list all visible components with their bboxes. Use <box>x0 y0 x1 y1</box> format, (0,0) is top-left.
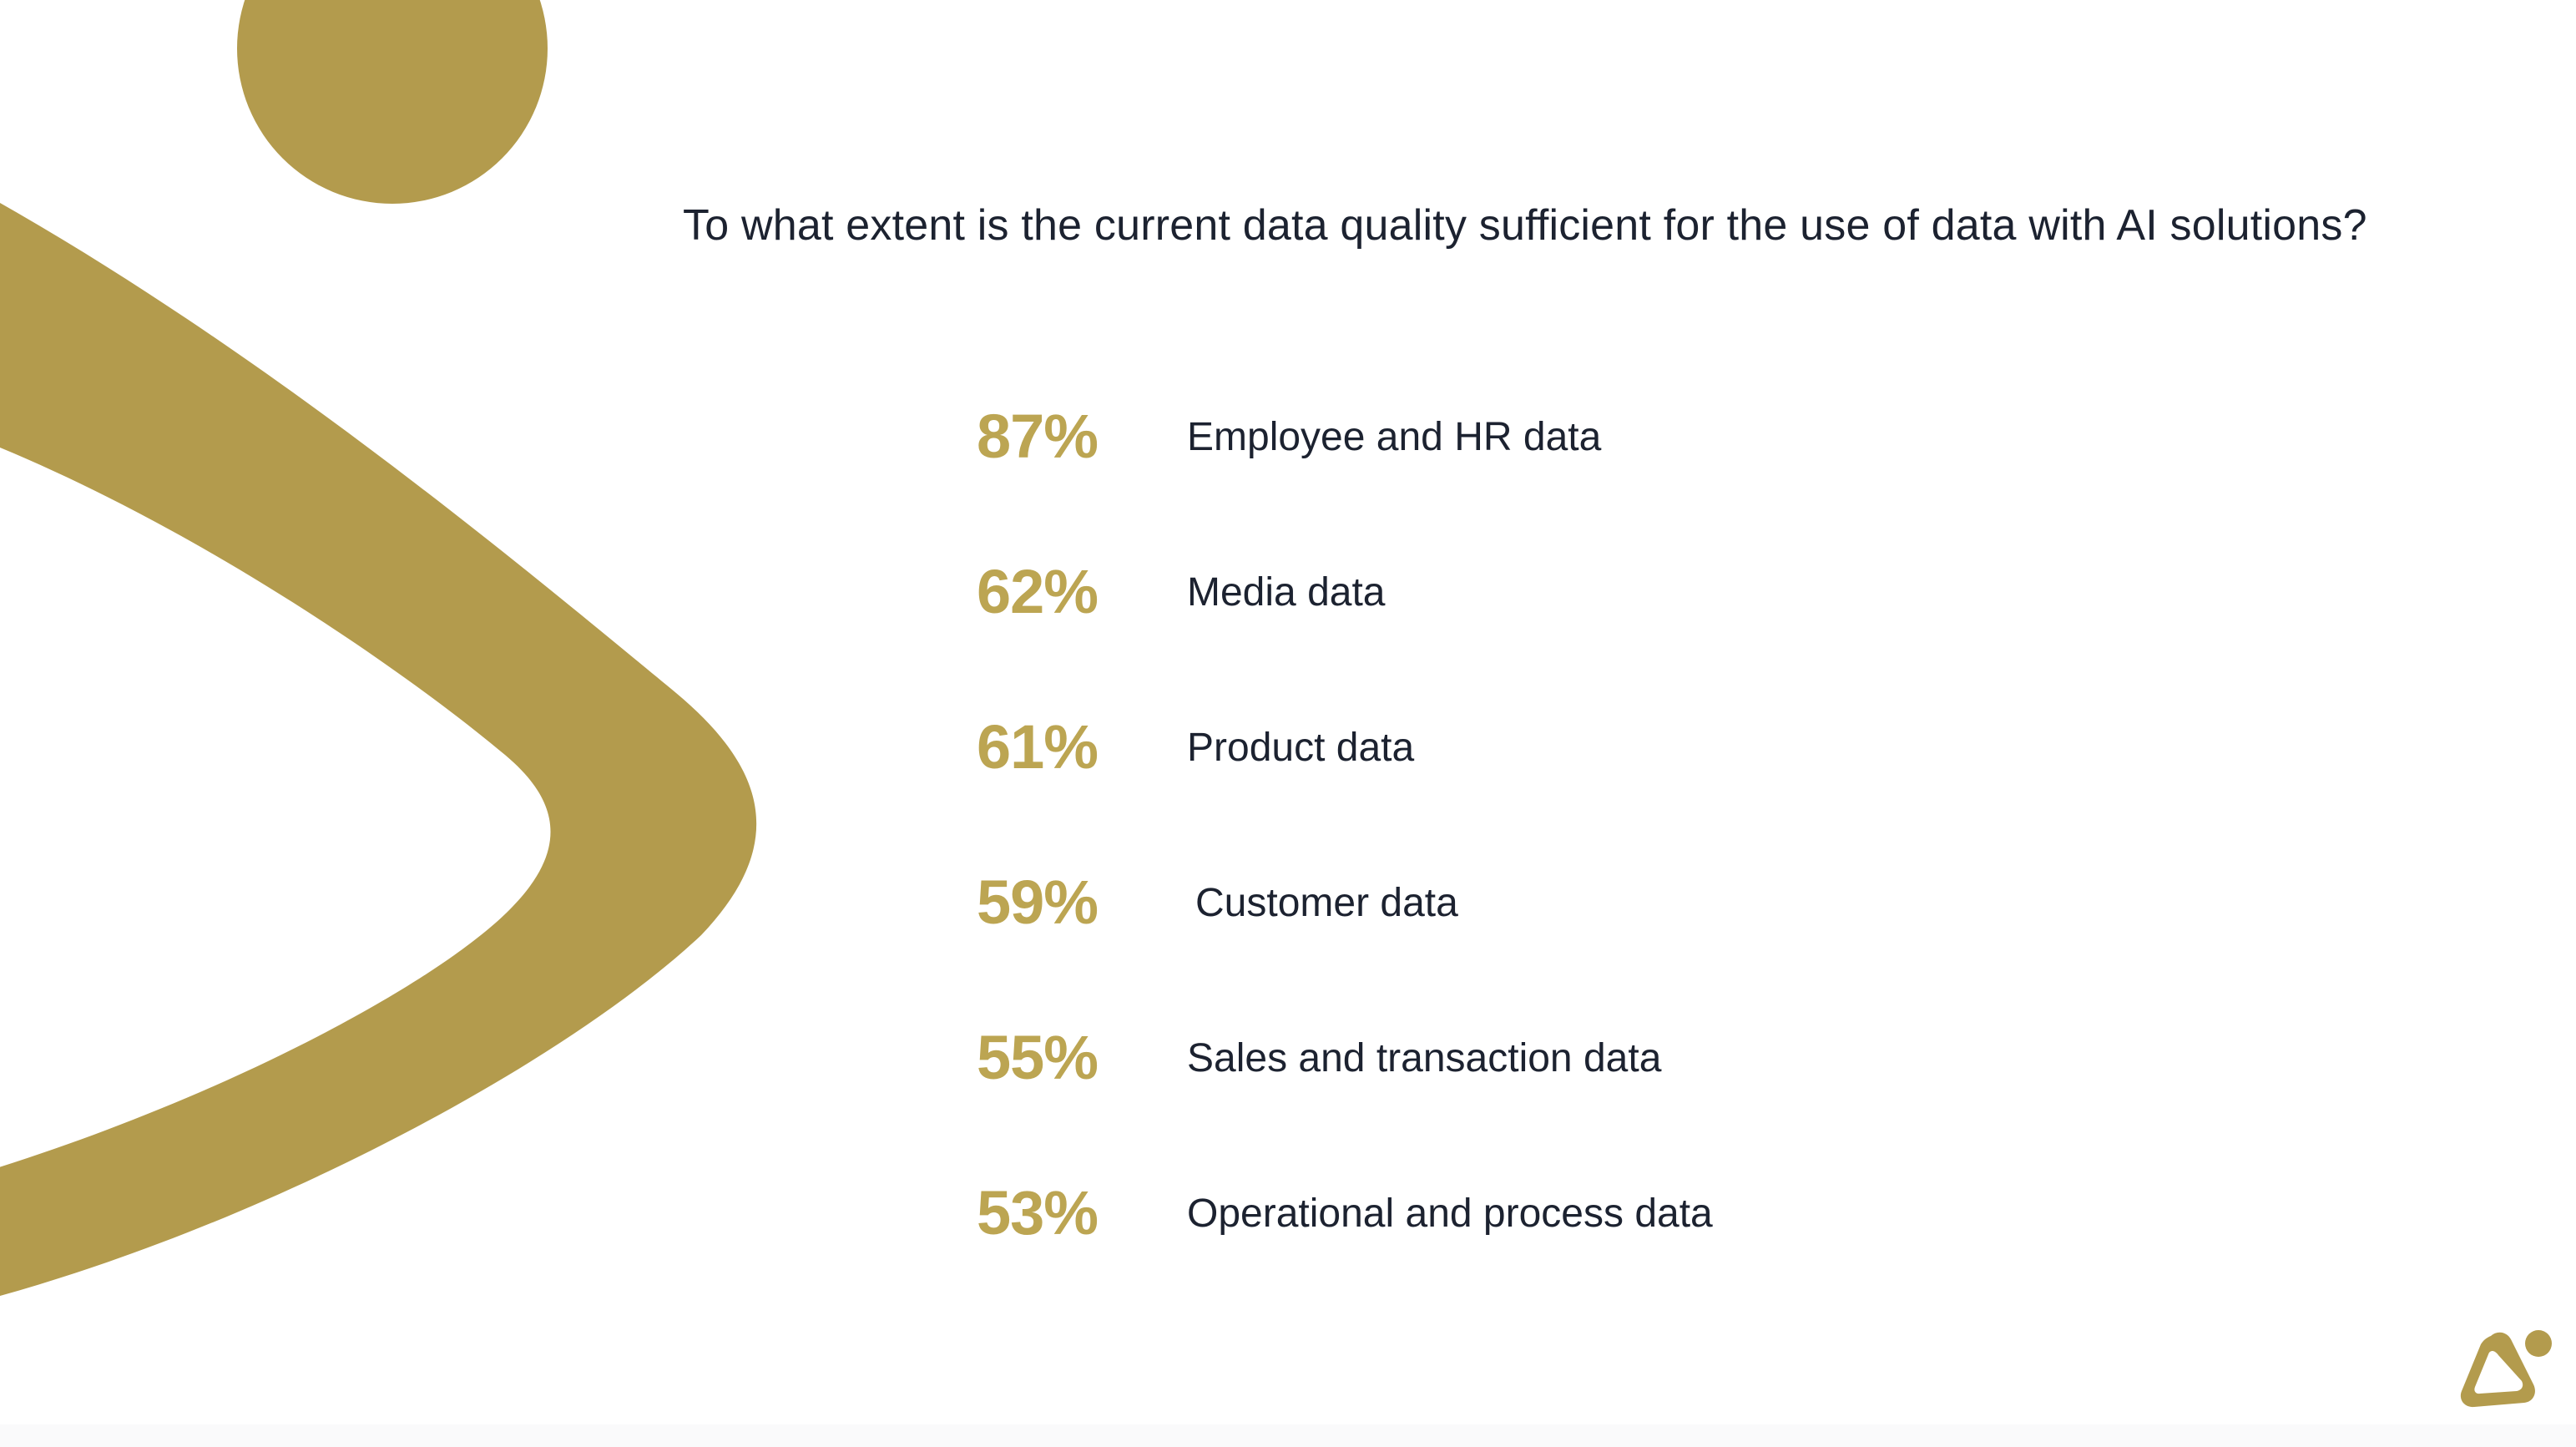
list-item: 87% Employee and HR data <box>935 406 2354 561</box>
stat-percentage: 62% <box>935 561 1139 623</box>
stat-label: Product data <box>1139 716 1414 768</box>
logo-triangle-icon <box>2461 1333 2535 1407</box>
stat-label: Employee and HR data <box>1139 406 1601 458</box>
slide-canvas: To what extent is the current data quali… <box>0 0 2576 1447</box>
stat-percentage: 55% <box>935 1027 1139 1089</box>
stat-label: Customer data <box>1139 872 1458 923</box>
stat-label: Media data <box>1139 561 1386 613</box>
stat-percentage: 53% <box>935 1182 1139 1244</box>
list-item: 61% Product data <box>935 716 2354 872</box>
footer-divider <box>0 1424 2576 1447</box>
list-item: 62% Media data <box>935 561 2354 716</box>
brand-logo-icon <box>2454 1326 2554 1419</box>
gold-circle-shape <box>237 0 548 204</box>
list-item: 55% Sales and transaction data <box>935 1027 2354 1182</box>
logo-dot-icon <box>2525 1330 2552 1357</box>
page-title: To what extent is the current data quali… <box>683 196 2369 256</box>
list-item: 53% Operational and process data <box>935 1182 2354 1338</box>
stat-label: Sales and transaction data <box>1139 1027 1661 1079</box>
gold-swoosh-shape <box>0 203 756 1296</box>
stat-percentage: 59% <box>935 872 1139 933</box>
stats-list: 87% Employee and HR data 62% Media data … <box>935 406 2354 1338</box>
stat-percentage: 87% <box>935 406 1139 468</box>
list-item: 59% Customer data <box>935 872 2354 1027</box>
stat-percentage: 61% <box>935 716 1139 778</box>
stat-label: Operational and process data <box>1139 1182 1713 1234</box>
